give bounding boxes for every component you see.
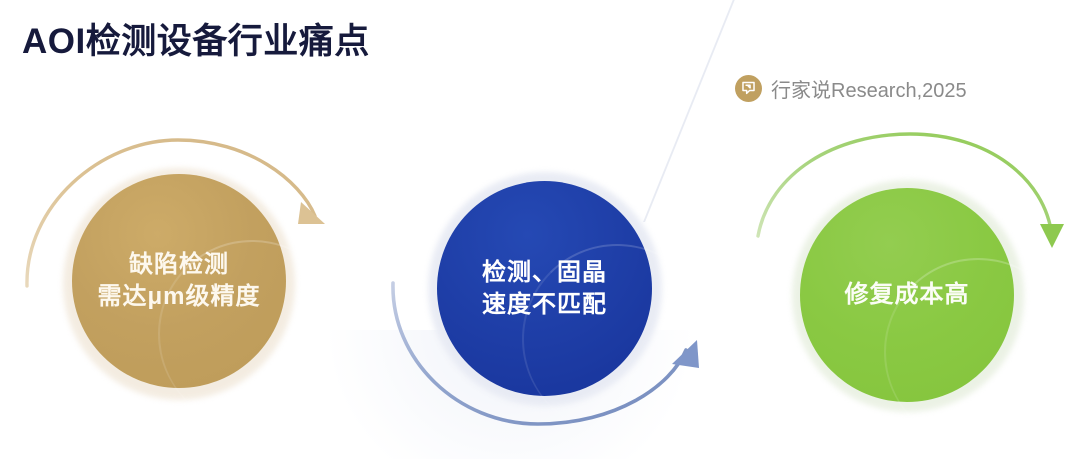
watermark-text: 行家说Research,2025 [771,74,967,103]
slide-canvas: AOI检测设备行业痛点 行家说Research,2025 [0,0,1080,459]
pain-point-speed-mismatch: 检测、固晶 速度不匹配 [366,128,726,458]
pain-point-defect-precision: 缺陷检测 需达μm级精度 [0,118,360,448]
bubble-circle: 检测、固晶 速度不匹配 [437,181,652,396]
pain-point-label: 检测、固晶 速度不匹配 [482,257,607,320]
pain-point-label: 缺陷检测 需达μm级精度 [97,249,260,312]
pain-point-repair-cost: 修复成本高 [730,128,1080,458]
bubble-circle: 修复成本高 [800,188,1014,402]
watermark: 行家说Research,2025 [735,74,967,103]
bubble-circle: 缺陷检测 需达μm级精度 [72,174,286,388]
pain-point-label: 修复成本高 [845,279,970,311]
page-title: AOI检测设备行业痛点 [22,13,370,64]
speech-bubble-logo-icon [735,75,762,102]
